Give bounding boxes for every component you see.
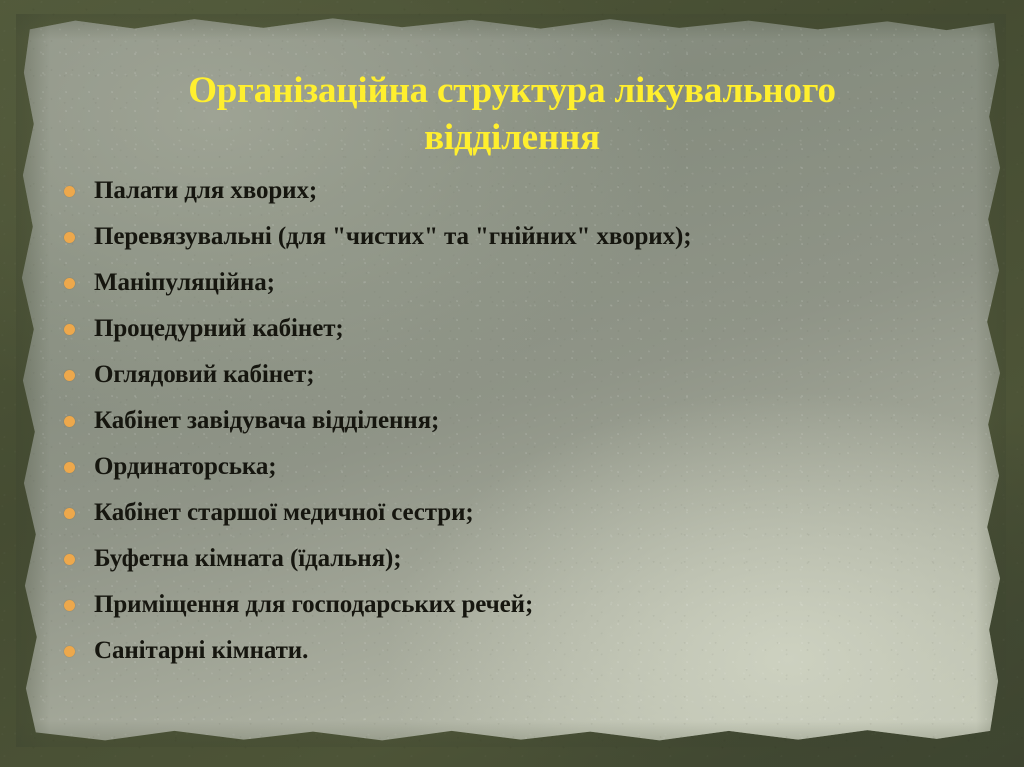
list-item-label: Буфетна кімната (їдальня); — [94, 545, 401, 573]
bullet-dot-icon — [64, 646, 75, 657]
slide-title-line-1: Організаційна структура лікувального — [70, 67, 954, 114]
slide-title-line-2: відділення — [70, 114, 954, 161]
presentation-slide: Організаційна структура лікувального від… — [0, 0, 1024, 767]
list-item-label: Процедурний кабінет; — [94, 315, 344, 343]
list-item: Санітарні кімнати. — [56, 628, 984, 674]
slide-content: Організаційна структура лікувального від… — [0, 0, 1024, 767]
list-item-label: Маніпуляційна; — [94, 269, 275, 297]
bullet-dot-icon — [64, 370, 75, 381]
list-item-label: Санітарні кімнати. — [94, 637, 308, 665]
list-item: Приміщення для господарських речей; — [56, 582, 984, 628]
bullet-dot-icon — [64, 416, 75, 427]
list-item: Процедурний кабінет; — [56, 306, 984, 352]
list-item: Буфетна кімната (їдальня); — [56, 536, 984, 582]
list-item-label: Кабінет старшої медичної сестри; — [94, 499, 474, 527]
bullet-dot-icon — [64, 554, 75, 565]
bullet-dot-icon — [64, 462, 75, 473]
list-item-label: Оглядовий кабінет; — [94, 361, 314, 389]
bullet-dot-icon — [64, 508, 75, 519]
list-item-label: Палати для хворих; — [94, 177, 317, 205]
bullet-dot-icon — [64, 600, 75, 611]
slide-title: Організаційна структура лікувального від… — [70, 67, 954, 161]
list-item: Кабінет завідувача відділення; — [56, 398, 984, 444]
bullet-dot-icon — [64, 278, 75, 289]
list-item-label: Ординаторська; — [94, 453, 276, 481]
list-item: Палати для хворих; — [56, 168, 984, 214]
slide-bullet-list: Палати для хворих; Перевязувальні (для "… — [56, 168, 984, 674]
bullet-dot-icon — [64, 186, 75, 197]
list-item-label: Перевязувальні (для "чистих" та "гнійних… — [94, 223, 691, 251]
list-item: Оглядовий кабінет; — [56, 352, 984, 398]
list-item-label: Кабінет завідувача відділення; — [94, 407, 439, 435]
list-item: Перевязувальні (для "чистих" та "гнійних… — [56, 214, 984, 260]
bullet-dot-icon — [64, 324, 75, 335]
list-item: Кабінет старшої медичної сестри; — [56, 490, 984, 536]
list-item: Ординаторська; — [56, 444, 984, 490]
list-item: Маніпуляційна; — [56, 260, 984, 306]
bullet-dot-icon — [64, 232, 75, 243]
list-item-label: Приміщення для господарських речей; — [94, 591, 533, 619]
